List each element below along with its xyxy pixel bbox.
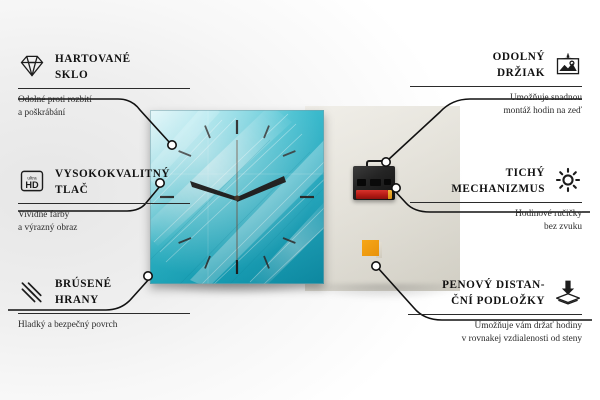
feature-header: PENOVÝ DISTAN- ČNÍ PODLOŽKY <box>408 278 582 310</box>
feature-header: ODOLNÝ DRŽIAK <box>410 50 582 82</box>
feature-silent-mechanism[interactable]: TICHÝ MECHANIZMUS Hodinové ručičky bez z… <box>410 166 582 235</box>
ultra-hd-icon-main-text: HD <box>25 180 39 190</box>
feature-header: BRÚSENÉ HRANY <box>18 277 190 309</box>
infographic-canvas: HARTOVANÉ SKLO Odolné proti rozbití a po… <box>0 0 600 400</box>
feature-title: BRÚSENÉ HRANY <box>55 277 112 309</box>
feature-title: PENOVÝ DISTAN- ČNÍ PODLOŽKY <box>442 278 545 310</box>
feature-header: ultra HD VYSOKOKVALITNÝ TLAČ <box>18 167 190 199</box>
battery <box>356 190 388 199</box>
feature-divider <box>408 314 582 315</box>
mechanism-body <box>353 166 395 200</box>
mechanism-slot-right <box>384 179 391 185</box>
feature-divider <box>18 88 190 89</box>
ultra-hd-icon: ultra HD <box>18 167 46 195</box>
feature-title: TICHÝ MECHANIZMUS <box>451 166 545 198</box>
feature-header: TICHÝ MECHANIZMUS <box>410 166 582 198</box>
press-layers-icon <box>554 278 582 306</box>
feature-divider <box>410 86 582 87</box>
picture-frame-icon <box>554 50 582 78</box>
feature-description: Hladký a bezpečný povrch <box>18 319 190 332</box>
feature-header: HARTOVANÉ SKLO <box>18 52 190 84</box>
feature-description: Hodinové ručičky bez zvuku <box>410 208 582 235</box>
feature-description: Odolné proti rozbití a poškrábání <box>18 94 190 121</box>
clock-mechanism[interactable] <box>353 160 395 200</box>
feature-durable-holder[interactable]: ODOLNÝ DRŽIAK Umožňuje snadnou montáž ho… <box>410 50 582 119</box>
ground-edges-icon <box>18 277 46 305</box>
feature-high-quality-print[interactable]: ultra HD VYSOKOKVALITNÝ TLAČ Vividné far… <box>18 167 190 236</box>
feature-title: VYSOKOKVALITNÝ TLAČ <box>55 167 170 199</box>
feature-title: HARTOVANÉ SKLO <box>55 52 131 84</box>
mechanism-slot-left <box>357 179 366 186</box>
mechanism-slot-center <box>370 179 381 186</box>
feature-tempered-glass[interactable]: HARTOVANÉ SKLO Odolné proti rozbití a po… <box>18 52 190 121</box>
feature-description: Umožňuje snadnou montáž hodin na zeď <box>410 92 582 119</box>
feature-foam-spacers[interactable]: PENOVÝ DISTAN- ČNÍ PODLOŽKY Umožňuje vám… <box>408 278 582 347</box>
diamond-icon <box>18 52 46 80</box>
foam-pad-face <box>362 240 379 256</box>
feature-ground-edges[interactable]: BRÚSENÉ HRANY Hladký a bezpečný povrch <box>18 277 190 332</box>
feature-divider <box>410 202 582 203</box>
battery-terminal <box>388 190 392 199</box>
feature-title: ODOLNÝ DRŽIAK <box>493 50 545 82</box>
foam-spacer-pad[interactable] <box>362 240 382 258</box>
gear-icon <box>554 166 582 194</box>
feature-divider <box>18 203 190 204</box>
feature-description: Umožňuje vám držať hodiny v rovnakej vzd… <box>408 320 582 347</box>
feature-description: Vividné farby a výrazný obraz <box>18 209 190 236</box>
feature-divider <box>18 313 190 314</box>
